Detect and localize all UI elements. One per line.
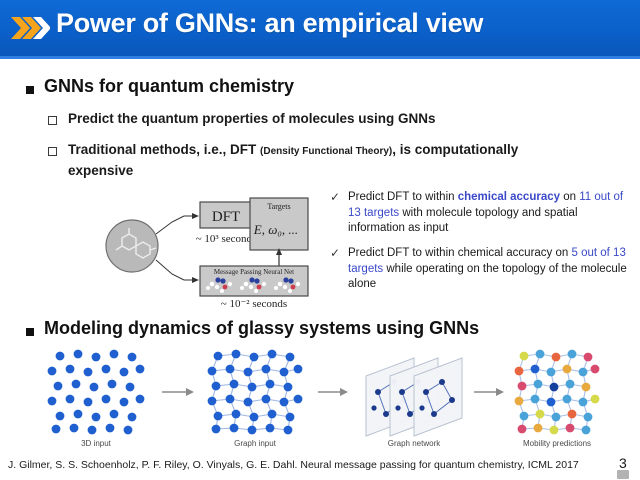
checklist-2-p3: while operating on the topology of the m… <box>348 263 627 291</box>
targets-title-label: Targets <box>267 202 290 211</box>
sub-bullet-marker-1 <box>48 116 57 125</box>
checklist-1-p3: on <box>560 191 579 203</box>
sub-bullet-2-line2: expensive <box>68 162 608 179</box>
panel-mobility-predictions: Mobility predictions <box>515 350 600 448</box>
arrow-right-icon-2 <box>318 388 348 396</box>
bullet-square-1 <box>26 86 34 94</box>
page-number: 3 <box>619 455 627 471</box>
sub-bullet-2-lead: Traditional methods, i.e., DFT <box>68 142 260 157</box>
bullet-square-2 <box>26 328 34 336</box>
checklist-item-1: Predict DFT to within chemical accuracy … <box>348 190 628 237</box>
check-mark-icon-2: ✓ <box>330 246 340 260</box>
sub-bullet-marker-2 <box>48 147 57 156</box>
slide-header: Power of GNNs: an empirical view <box>0 0 640 56</box>
sub-bullet-2-tail: , is computationally <box>392 142 518 157</box>
watermark-icon <box>617 470 629 479</box>
checklist-1-p1: Predict DFT to within <box>348 191 458 203</box>
targets-formula-label: E, ω₀, ... <box>253 222 298 237</box>
sub-bullet-2-paren: (Density Functional Theory) <box>260 146 392 157</box>
dft-vs-mpnn-diagram: DFT ~ 10³ seconds Targets E, ω₀, ... Mes… <box>104 188 319 308</box>
panel-3d-input: 3D input <box>48 350 145 448</box>
slide: Power of GNNs: an empirical view GNNs fo… <box>0 0 640 480</box>
arrow-right-icon-1 <box>162 388 194 396</box>
bullet-1-text: GNNs for quantum chemistry <box>44 76 294 97</box>
double-chevron-right-icon <box>10 14 50 42</box>
arrow-right-icon-3 <box>474 388 504 396</box>
panel-graph-input: Graph input <box>208 350 303 448</box>
panel-caption-mobility-predictions: Mobility predictions <box>523 439 591 448</box>
checklist-2-p1: Predict DFT to within chemical accuracy … <box>348 247 571 259</box>
sub-bullet-1-text: Predict the quantum properties of molecu… <box>68 110 436 127</box>
check-mark-icon-1: ✓ <box>330 190 340 204</box>
panel-caption-3d-input: 3D input <box>81 439 112 448</box>
mpnn-title-label: Message Passing Neural Net <box>214 268 294 276</box>
dft-box-label: DFT <box>212 209 240 225</box>
header-underline <box>0 56 640 59</box>
mpnn-time-label: ~ 10⁻² seconds <box>221 298 287 308</box>
panel-graph-network: Graph network <box>366 358 462 448</box>
panel-caption-graph-input: Graph input <box>234 439 277 448</box>
sub-bullet-2-text: Traditional methods, i.e., DFT (Density … <box>68 141 608 179</box>
glassy-pipeline-svg: 3D input <box>22 346 622 450</box>
citation-text: J. Gilmer, S. S. Schoenholz, P. F. Riley… <box>8 459 579 471</box>
dft-time-label: ~ 10³ seconds <box>196 233 257 245</box>
bullet-2-text: Modeling dynamics of glassy systems usin… <box>44 318 479 339</box>
checklist-item-2: Predict DFT to within chemical accuracy … <box>348 246 628 293</box>
page-title: Power of GNNs: an empirical view <box>56 8 483 39</box>
dft-diagram-svg: DFT ~ 10³ seconds Targets E, ω₀, ... Mes… <box>104 188 319 308</box>
checklist-1-highlight: chemical accuracy <box>458 191 560 203</box>
panel-caption-graph-network: Graph network <box>388 439 441 448</box>
glassy-dynamics-pipeline: 3D input <box>22 346 622 450</box>
